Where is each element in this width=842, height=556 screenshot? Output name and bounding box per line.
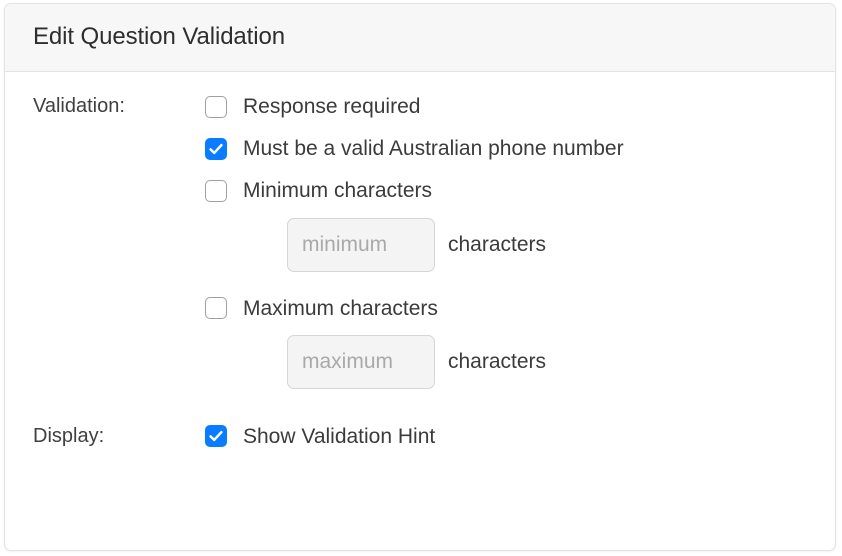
option-label-response-required: Response required — [243, 94, 420, 119]
option-australian-phone[interactable]: Must be a valid Australian phone number — [205, 136, 835, 161]
panel-body: Validation: Response required — [5, 94, 835, 449]
option-show-validation-hint[interactable]: Show Validation Hint — [205, 424, 835, 449]
maximum-characters-input[interactable] — [287, 335, 435, 389]
panel-header: Edit Question Validation — [5, 4, 835, 72]
option-label-show-validation-hint: Show Validation Hint — [243, 424, 435, 449]
option-label-maximum-characters: Maximum characters — [243, 296, 438, 321]
checkbox-maximum-characters[interactable] — [205, 297, 227, 319]
maximum-characters-unit: characters — [448, 349, 546, 374]
checkbox-show-validation-hint[interactable] — [205, 425, 227, 447]
minimum-characters-input[interactable] — [287, 218, 435, 272]
page-title: Edit Question Validation — [33, 24, 285, 50]
display-row: Display: Show Validation Hint — [5, 424, 835, 449]
option-minimum-characters[interactable]: Minimum characters — [205, 178, 835, 203]
minimum-characters-input-row: characters — [205, 218, 835, 272]
validation-options: Response required Must be a valid Austra… — [205, 94, 835, 389]
option-response-required[interactable]: Response required — [205, 94, 835, 119]
minimum-characters-unit: characters — [448, 232, 546, 257]
display-options: Show Validation Hint — [205, 424, 835, 449]
option-label-minimum-characters: Minimum characters — [243, 178, 432, 203]
option-label-australian-phone: Must be a valid Australian phone number — [243, 136, 624, 161]
validation-row: Validation: Response required — [5, 94, 835, 389]
checkmark-icon — [206, 426, 226, 446]
checkbox-response-required[interactable] — [205, 96, 227, 118]
maximum-characters-input-row: characters — [205, 335, 835, 389]
validation-row-label: Validation: — [5, 94, 205, 118]
checkmark-icon — [206, 139, 226, 159]
display-row-label: Display: — [5, 424, 205, 448]
edit-question-validation-panel: Edit Question Validation Validation: Res… — [4, 3, 836, 551]
option-maximum-characters[interactable]: Maximum characters — [205, 296, 835, 321]
checkbox-minimum-characters[interactable] — [205, 180, 227, 202]
checkbox-australian-phone[interactable] — [205, 138, 227, 160]
